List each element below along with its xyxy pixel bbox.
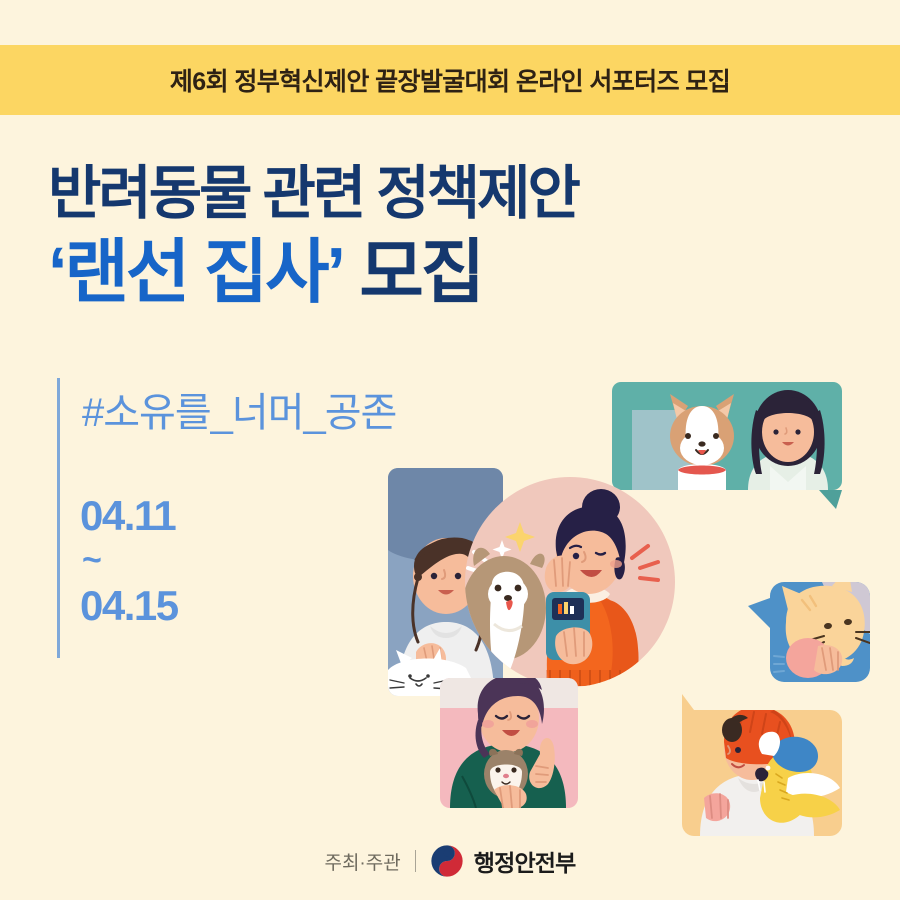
top-banner: 제6회 정부혁신제안 끝장발굴대회 온라인 서포터즈 모집: [0, 45, 900, 115]
date-separator: ~: [82, 543, 178, 577]
date-start: 04.11: [80, 495, 178, 537]
illustration-collage: [370, 370, 900, 840]
taegeuk-logo-icon: [430, 844, 464, 878]
corgi-and-woman-card: [612, 382, 842, 509]
hashtag-label: #소유를_너머_공존: [82, 380, 396, 438]
headline-line-1: 반려동물 관련 정책제안: [48, 165, 578, 223]
headline-line-2: ‘랜선 집사’ 모집: [48, 237, 578, 307]
banner-title: 제6회 정부혁신제안 끝장발굴대회 온라인 서포터즈 모집: [170, 62, 730, 98]
government-organization-name: 행정안전부: [474, 844, 576, 878]
poster-root: 제6회 정부혁신제안 끝장발굴대회 온라인 서포터즈 모집 반려동물 관련 정책…: [0, 0, 900, 900]
orange-cat-petting-card: [748, 568, 870, 682]
date-range-block: 04.11 ~ 04.15: [80, 495, 178, 627]
woman-with-hamster-card: [440, 670, 578, 810]
government-brand: 행정안전부: [430, 844, 576, 878]
headline-block: 반려동물 관련 정책제안 ‘랜선 집사’ 모집: [48, 165, 578, 307]
headline-accent-text: ‘랜선 집사’: [48, 233, 343, 311]
footer: 주최·주관 행정안전부: [0, 838, 900, 884]
vertical-divider: [57, 378, 60, 658]
headline-navy-text: 모집: [359, 233, 482, 311]
date-end: 04.15: [80, 585, 178, 627]
footer-host-label: 주최·주관: [324, 848, 400, 875]
footer-divider: [415, 850, 416, 872]
man-with-parrot-speech-bubble: [682, 694, 842, 836]
